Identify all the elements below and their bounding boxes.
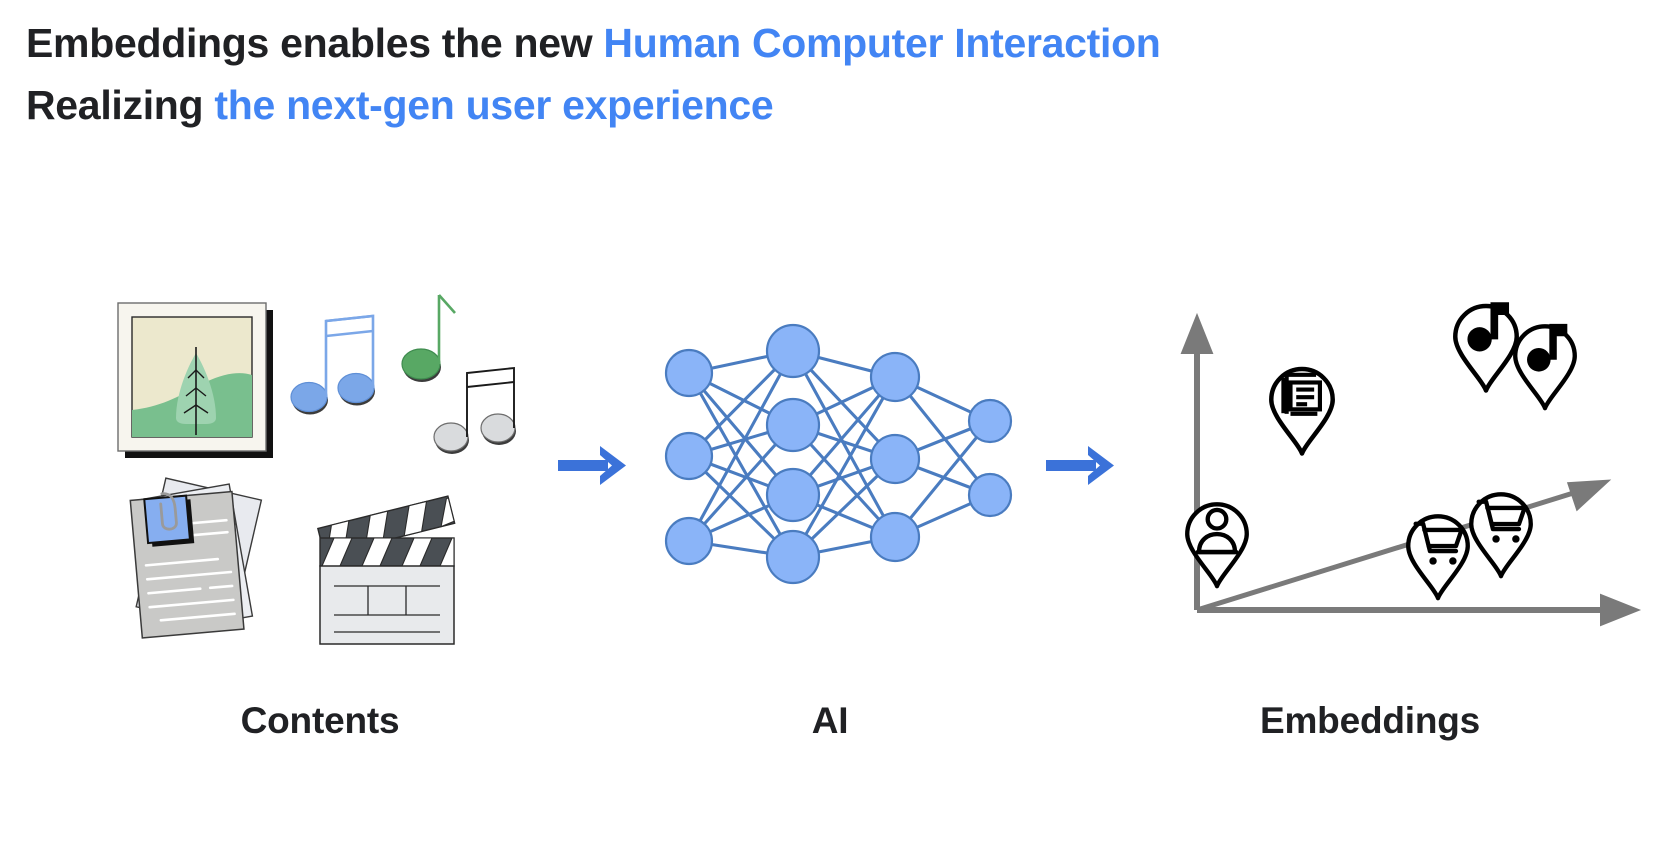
network-node — [969, 474, 1011, 516]
clapperboard-icon — [318, 496, 455, 644]
flow-arrow-ai-to-embeddings — [1044, 438, 1124, 492]
title-line-1: Embeddings enables the new Human Compute… — [26, 12, 1586, 74]
neural-network-diagram — [645, 325, 1045, 585]
embedding-space-plot — [1175, 285, 1645, 645]
network-node — [666, 433, 712, 479]
flow-arrow-contents-to-ai — [556, 438, 636, 492]
title-line-1-plain: Embeddings enables the new — [26, 20, 603, 66]
contents-illustration — [100, 285, 540, 645]
pin-cart-icon-2 — [1471, 494, 1531, 576]
title-line-2-accent: the next-gen user experience — [214, 82, 773, 128]
network-node — [767, 399, 819, 451]
network-edges — [689, 351, 990, 557]
pin-cart-icon-1 — [1408, 516, 1468, 598]
column-label-embeddings: Embeddings — [1150, 700, 1590, 742]
column-label-ai: AI — [620, 700, 1040, 742]
pin-article-icon — [1271, 369, 1332, 453]
photo-frame-icon — [118, 303, 273, 458]
network-node — [767, 531, 819, 583]
arrow-right-icon — [558, 446, 626, 485]
column-label-contents: Contents — [110, 700, 530, 742]
title-line-2: Realizing the next-gen user experience — [26, 74, 1586, 136]
page-title: Embeddings enables the new Human Compute… — [26, 12, 1586, 137]
network-node — [666, 518, 712, 564]
network-node — [666, 350, 712, 396]
title-line-2-plain: Realizing — [26, 82, 214, 128]
documents-icon — [130, 478, 261, 638]
music-notes-icon — [291, 295, 516, 454]
title-line-1-accent: Human Computer Interaction — [603, 20, 1160, 66]
pin-music-icon-1 — [1455, 302, 1516, 390]
network-node — [871, 513, 919, 561]
network-node — [767, 325, 819, 377]
network-node — [871, 435, 919, 483]
slide-canvas: Embeddings enables the new Human Compute… — [0, 0, 1658, 864]
network-node — [871, 353, 919, 401]
arrow-right-icon — [1046, 446, 1114, 485]
pin-music-icon-2 — [1515, 324, 1575, 408]
network-node — [767, 469, 819, 521]
network-node — [969, 400, 1011, 442]
